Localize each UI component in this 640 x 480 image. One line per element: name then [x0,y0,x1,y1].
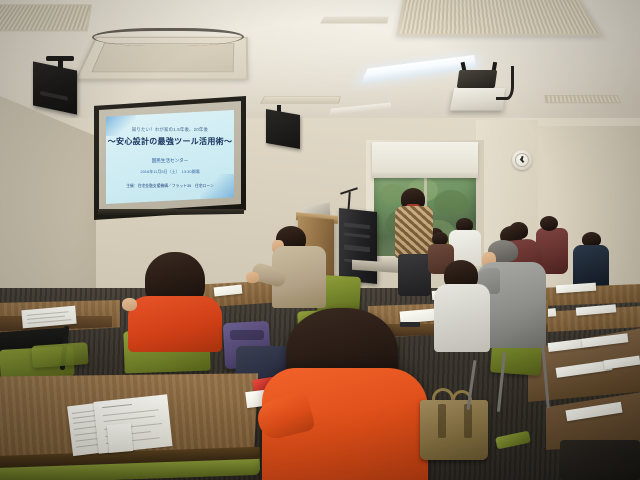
handout-paper [93,394,172,453]
ceiling-vent-slot [260,97,341,104]
attendee-head [540,216,558,231]
tote-bag-strap [438,404,446,438]
projection-screen-surface: 知りたい！わが家の1.5年後、20年後 ～安心設計の最強ツール活用術～ 国民生活… [106,110,234,204]
attendee-navy-jacket [573,245,609,287]
slide-subtitle: 知りたい！わが家の1.5年後、20年後 [106,127,234,133]
man-beige-hand [246,272,259,283]
projector-cable [496,66,514,100]
ceiling-air-vent-grille [396,0,603,36]
slide-organization: 国民生活センター [106,158,234,164]
slide-title: ～安心設計の最強ツール活用術～ [106,136,234,147]
khaki-tote-bag [420,400,488,460]
foreground-shadow-area [560,440,640,480]
chair-backrest [31,342,88,368]
seminar-room-photo: 知りたい！わが家の1.5年後、20年後 ～安心設計の最強ツール活用術～ 国民生活… [0,0,640,480]
av-equipment-rack [339,208,377,284]
presenter-trousers [398,254,431,296]
projector-mount [457,70,498,88]
woman-orange-left-top [128,296,222,352]
ceiling-speaker-icon [33,61,77,114]
air-vent-grille-corner-icon [0,4,92,31]
wall-speaker-icon [266,109,300,149]
slide-footer: 主催：住宅金融支援機構／フラット35 住宅ローン [106,184,234,189]
backpack-strap [230,330,264,340]
woman-left-hand [122,298,137,311]
ceiling-panel-strip [320,17,389,24]
slide-date: 2016年11月5日（土） 13:30開場 [106,169,234,175]
air-conditioner-rim [90,28,245,46]
handout-paper [107,423,133,453]
pen [400,322,420,327]
air-conditioner-inner-panel [91,43,234,72]
attendee-light-top [434,284,490,352]
ceiling-vent-slot [544,95,620,103]
window-roller-blind [372,142,478,178]
